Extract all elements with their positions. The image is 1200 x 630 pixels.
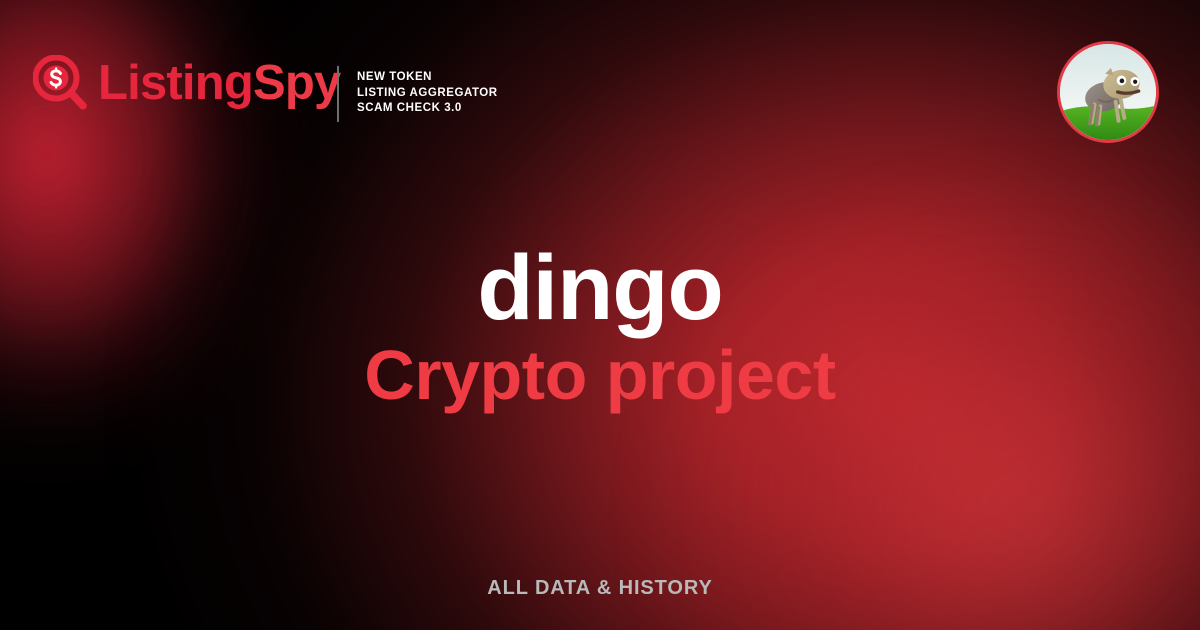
token-name: dingo (0, 236, 1200, 340)
brand-wordmark-part2: Spy (253, 56, 340, 110)
avatar (1057, 41, 1159, 143)
banner-footer: ALL DATA & HISTORY (0, 577, 1200, 600)
banner-header: ListingSpy NEW TOKEN LISTING AGGREGATOR … (0, 0, 1200, 185)
tagline-line-3: SCAM CHECK 3.0 (357, 101, 498, 117)
footer-caption: ALL DATA & HISTORY (0, 577, 1200, 600)
brand-lockup[interactable]: ListingSpy (33, 55, 340, 111)
tagline-line-2: LISTING AGGREGATOR (357, 86, 498, 102)
token-type: Crypto project (0, 334, 1200, 416)
brand-divider (337, 66, 339, 122)
brand-wordmark-part1: Listing (98, 56, 253, 110)
banner-main: dingo Crypto project (0, 236, 1200, 416)
tagline-line-1: NEW TOKEN (357, 70, 498, 86)
magnifier-dollar-icon (33, 55, 89, 111)
brand-tagline: NEW TOKEN LISTING AGGREGATOR SCAM CHECK … (357, 70, 498, 117)
brand-wordmark: ListingSpy (98, 59, 340, 108)
listingspy-token-banner: ListingSpy NEW TOKEN LISTING AGGREGATOR … (0, 0, 1200, 630)
